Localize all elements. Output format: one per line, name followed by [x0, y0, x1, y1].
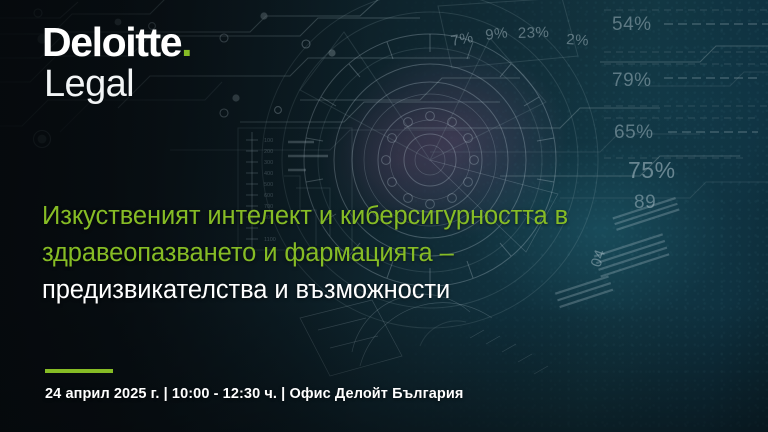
logo-practice-name: Legal	[44, 65, 191, 103]
logo-wordmark: Deloitte.	[42, 22, 191, 63]
title-line-2: здравеопазването и фармацията –	[42, 235, 732, 272]
event-banner: 100 200 300 400 500 600 700 800 1100	[0, 0, 768, 432]
title-line-3: предизвикателства и възможности	[42, 272, 732, 309]
green-accent-rule	[45, 369, 113, 373]
event-title: Изкуственият интелект и киберсигурността…	[42, 198, 732, 309]
logo-green-dot: .	[181, 19, 191, 65]
banner-content: Deloitte. Legal Изкуственият интелект и …	[0, 0, 768, 432]
title-line-1: Изкуственият интелект и киберсигурността…	[42, 198, 732, 235]
event-details: 24 април 2025 г. | 10:00 - 12:30 ч. | Оф…	[45, 386, 463, 402]
logo-brand-name: Deloitte	[42, 19, 181, 65]
deloitte-logo: Deloitte. Legal	[42, 22, 191, 103]
